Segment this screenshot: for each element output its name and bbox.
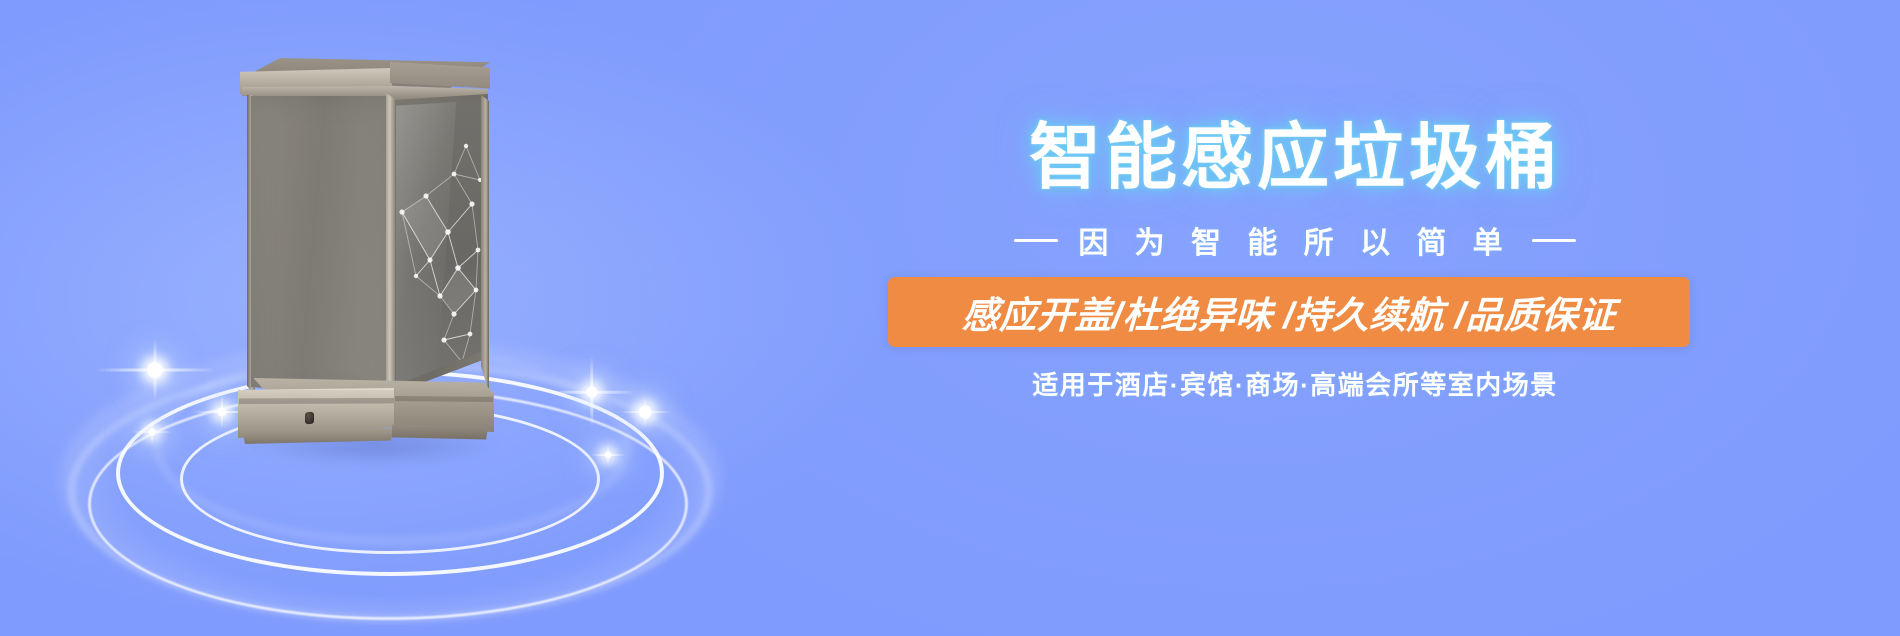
bin-body-corner-edge: [386, 93, 395, 395]
bin-base-front-groove: [239, 398, 395, 404]
feature-badge: 感应开盖/杜绝异味 /持久续航 /品质保证: [888, 277, 1690, 347]
banner-subline: 因 为 智 能 所 以 简 单: [890, 218, 1700, 262]
feature-badge-text: 感应开盖/杜绝异味 /持久续航 /品质保证: [961, 285, 1617, 339]
bin-base-side-groove: [395, 396, 493, 402]
banner-text-block: 智能感应垃圾桶 因 为 智 能 所 以 简 单 感应开盖/杜绝异味 /持久续航 …: [890, 0, 1700, 636]
banner-headline: 智能感应垃圾桶: [890, 122, 1700, 194]
banner-tagline: 适用于酒店·宾馆·商场·高端会所等室内场景: [890, 365, 1700, 402]
subline-rule-left: [1014, 239, 1058, 242]
subline-rule-right: [1532, 239, 1576, 242]
product-image-trash-bin: UF 优 福 欧 智 能 深圳市优福欧智能科技有限公司: [0, 0, 760, 636]
product-scene: UF 优 福 欧 智 能 深圳市优福欧智能科技有限公司: [0, 0, 760, 636]
bin-glass-panel: [396, 100, 484, 388]
sensor-port-icon: [305, 412, 314, 424]
subline-text: 因 为 智 能 所 以 简 单: [1078, 218, 1511, 262]
bin-body-front-panel: [251, 96, 390, 396]
bin-body-right-edge: [481, 95, 489, 393]
promo-banner: UF 优 福 欧 智 能 深圳市优福欧智能科技有限公司 智能感应垃圾桶 因 为 …: [0, 0, 1900, 636]
